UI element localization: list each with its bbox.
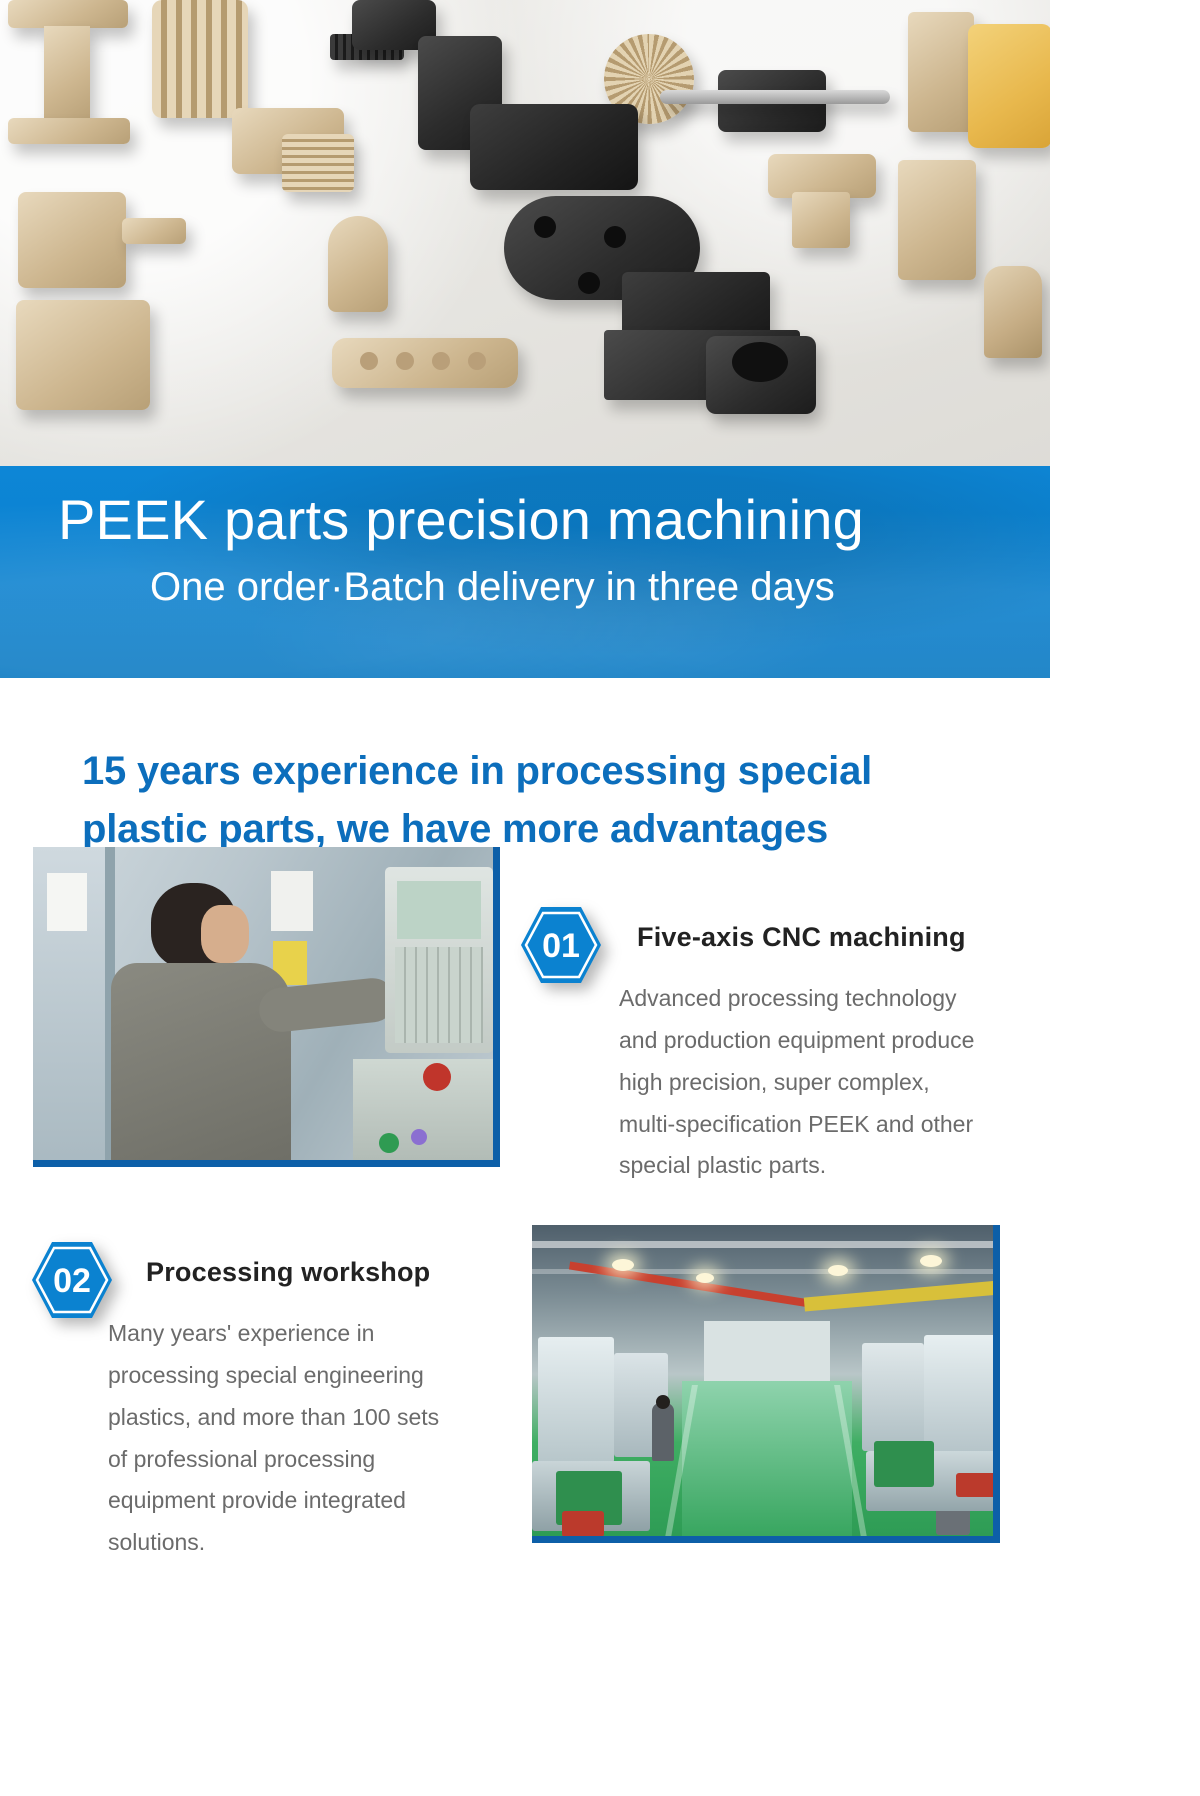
card-02-body-line: processing special engineering [108, 1355, 528, 1397]
workshop-cart-right [874, 1441, 934, 1487]
cnc-label-sticker [271, 871, 313, 931]
badge-02-number: 02 [53, 1262, 91, 1300]
card-01-body-line: high precision, super complex, [619, 1062, 1049, 1104]
badge-02-hexagon-icon: 02 [30, 1238, 114, 1322]
cnc-notice-paper [47, 873, 87, 931]
workshop-machine-left-1 [538, 1337, 614, 1463]
part-flange-neck [792, 192, 850, 248]
part-ribbed-bushing [282, 134, 354, 192]
part-bobbin-stem [44, 26, 90, 122]
banner-title: PEEK parts precision machining [58, 488, 1038, 552]
cnc-keypad [395, 947, 483, 1043]
cnc-indicator-purple [411, 1129, 427, 1145]
part-oval-hole-1 [534, 216, 556, 238]
card-01-body-line: special plastic parts. [619, 1145, 1049, 1187]
cnc-operator-body [111, 963, 291, 1167]
workshop-back-wall [704, 1321, 830, 1383]
part-hole-bar-h1 [360, 352, 378, 370]
product-feature-page: PEEK parts precision machining One order… [0, 0, 1200, 1796]
part-plug [984, 266, 1042, 358]
workshop-machine-right-2 [924, 1335, 1000, 1459]
part-black-bush-bore [732, 342, 788, 382]
card-01-body-line: Advanced processing technology [619, 978, 1049, 1020]
card-01-title: Five-axis CNC machining [637, 922, 966, 953]
processing-workshop-photo [532, 1225, 1000, 1543]
card-02-body-line: equipment provide integrated [108, 1480, 528, 1522]
part-manifold [470, 104, 638, 190]
badge-01-hexagon-icon: 01 [519, 903, 603, 987]
part-hole-bar-h2 [396, 352, 414, 370]
cnc-operator-face [201, 905, 249, 963]
workshop-red-box-right [956, 1473, 1000, 1497]
workshop-ceiling-beam-1 [532, 1241, 1000, 1248]
workshop-lamp-4 [920, 1255, 942, 1267]
section-headline: 15 years experience in processing specia… [82, 742, 1082, 858]
part-flanged-bush [898, 160, 976, 280]
workshop-worker-left-head [656, 1395, 670, 1409]
hero-banner: PEEK parts precision machining One order… [0, 466, 1050, 678]
card-02-title: Processing workshop [146, 1257, 430, 1288]
part-amber-cup [968, 24, 1050, 148]
part-oval-hole-2 [604, 226, 626, 248]
workshop-lamp-3 [828, 1265, 848, 1276]
part-cube-fitting [18, 192, 126, 288]
card-01-body: Advanced processing technology and produ… [619, 978, 1049, 1187]
card-02-body-line: plastics, and more than 100 sets [108, 1397, 528, 1439]
workshop-lamp-1 [612, 1259, 634, 1271]
cnc-green-button [379, 1133, 399, 1153]
card-02-body-line: solutions. [108, 1522, 528, 1564]
part-bobbin-base [8, 118, 130, 144]
part-hole-bar-h4 [468, 352, 486, 370]
part-hole-bar-h3 [432, 352, 450, 370]
cnc-screen [397, 881, 481, 939]
part-shaft [660, 90, 890, 104]
part-cone [328, 216, 388, 312]
part-slotted-cage [152, 0, 248, 118]
card-01-body-line: and production equipment produce [619, 1020, 1049, 1062]
cnc-emergency-stop [423, 1063, 451, 1091]
workshop-lamp-2 [696, 1273, 714, 1283]
card-02-body-line: Many years' experience in [108, 1313, 528, 1355]
part-bobbin [8, 0, 128, 28]
card-01-body-line: multi-specification PEEK and other [619, 1104, 1049, 1146]
banner-subtitle: One order·Batch delivery in three days [150, 563, 1050, 611]
workshop-cart-left-red [562, 1511, 604, 1537]
hero-parts-photo [0, 0, 1050, 466]
workshop-worker-left [652, 1403, 674, 1461]
workshop-floor-aisle [682, 1381, 852, 1543]
part-sleeve [908, 12, 974, 132]
part-oval-hole-3 [578, 272, 600, 294]
workshop-machine-right-1 [862, 1343, 924, 1451]
card-02-body-line: of professional processing [108, 1439, 528, 1481]
part-cube-spout [122, 218, 186, 244]
cnc-machining-photo [33, 847, 500, 1167]
card-02-body: Many years' experience in processing spe… [108, 1313, 528, 1564]
part-bracket [16, 300, 150, 410]
headline-line-1: 15 years experience in processing specia… [82, 742, 1082, 800]
badge-01-number: 01 [542, 927, 580, 965]
